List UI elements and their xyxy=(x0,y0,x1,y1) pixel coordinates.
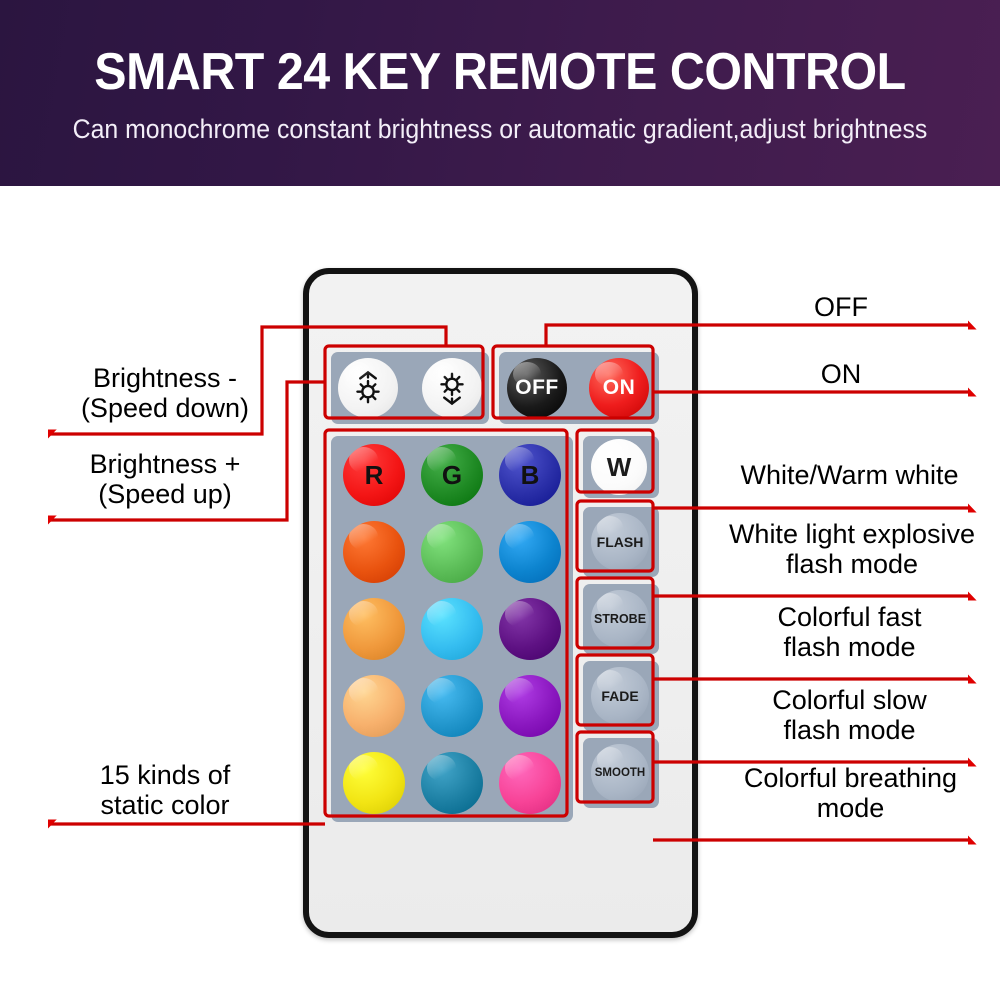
static-color-callout: 15 kinds of static color xyxy=(40,760,290,820)
smooth-panel: SMOOTH xyxy=(583,738,659,808)
strobe-button[interactable]: STROBE xyxy=(591,590,649,648)
brightness-up-button[interactable] xyxy=(338,358,398,418)
color-swatch[interactable] xyxy=(421,598,483,660)
sun-down-icon xyxy=(430,366,474,410)
color-swatch[interactable] xyxy=(343,521,405,583)
power-panel: OFF ON xyxy=(499,352,659,424)
color-swatch[interactable] xyxy=(421,675,483,737)
off-button[interactable]: OFF xyxy=(507,358,567,418)
brightness-panel xyxy=(331,352,489,424)
on-button[interactable]: ON xyxy=(589,358,649,418)
remote-control-body: OFF ON RGB W FLASH STROBE FADE SMOOTH xyxy=(303,268,698,938)
flash-panel: FLASH xyxy=(583,507,659,577)
color-swatch[interactable] xyxy=(499,675,561,737)
color-swatch[interactable] xyxy=(421,752,483,814)
smooth-button[interactable]: SMOOTH xyxy=(591,744,649,802)
brightness-down-callout: Brightness - (Speed down) xyxy=(40,363,290,423)
strobe-callout: Colorful fast flash mode xyxy=(712,602,987,662)
on-callout: ON xyxy=(716,359,966,389)
brightness-down-button[interactable] xyxy=(422,358,482,418)
strobe-panel: STROBE xyxy=(583,584,659,654)
white-panel: W xyxy=(583,436,659,498)
color-swatch[interactable] xyxy=(343,752,405,814)
color-swatch[interactable]: R xyxy=(343,444,405,506)
fade-panel: FADE xyxy=(583,661,659,731)
color-swatch[interactable] xyxy=(499,598,561,660)
fade-button[interactable]: FADE xyxy=(591,667,649,725)
sun-up-icon xyxy=(346,366,390,410)
smooth-callout: Colorful breathing mode xyxy=(708,763,993,823)
page-title: SMART 24 KEY REMOTE CONTROL xyxy=(35,42,965,102)
color-swatch[interactable]: B xyxy=(499,444,561,506)
header-banner: SMART 24 KEY REMOTE CONTROL Can monochro… xyxy=(0,0,1000,186)
fade-callout: Colorful slow flash mode xyxy=(712,685,987,745)
flash-button[interactable]: FLASH xyxy=(591,513,649,571)
white-button[interactable]: W xyxy=(591,439,647,495)
off-callout: OFF xyxy=(716,292,966,322)
white-callout: White/Warm white xyxy=(712,460,987,490)
flash-callout: White light explosive flash mode xyxy=(706,519,998,579)
color-swatch[interactable] xyxy=(499,752,561,814)
color-swatch[interactable] xyxy=(421,521,483,583)
brightness-up-callout: Brightness + (Speed up) xyxy=(40,449,290,509)
page-subtitle: Can monochrome constant brightness or au… xyxy=(40,114,960,145)
color-swatch[interactable] xyxy=(343,675,405,737)
color-swatch[interactable] xyxy=(343,598,405,660)
color-grid-panel: RGB xyxy=(331,436,573,822)
color-swatch[interactable] xyxy=(499,521,561,583)
color-swatch[interactable]: G xyxy=(421,444,483,506)
